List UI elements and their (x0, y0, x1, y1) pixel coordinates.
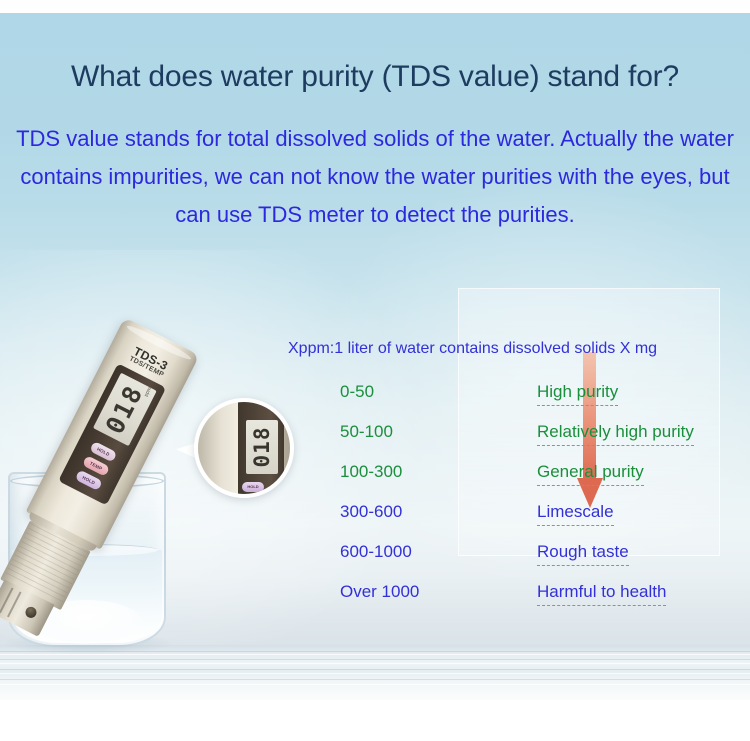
table-row: 600-1000 Rough taste (288, 542, 718, 582)
magnified-lcd-value: 018 (246, 420, 278, 474)
cell-description: Relatively high purity (537, 422, 694, 446)
cell-description: Harmful to health (537, 582, 666, 606)
table-row: Over 1000 Harmful to health (288, 582, 718, 622)
table-row: 0-50 High purity (288, 382, 718, 422)
cell-range: 0-50 (340, 382, 374, 402)
magnified-hold-button: HOLD (242, 482, 264, 492)
cell-description: Limescale (537, 502, 614, 526)
top-white-band (0, 0, 750, 13)
table-row: 50-100 Relatively high purity (288, 422, 718, 462)
table-header: Xppm:1 liter of water contains dissolved… (288, 340, 657, 358)
page-title: What does water purity (TDS value) stand… (0, 60, 750, 94)
cell-description: Rough taste (537, 542, 629, 566)
infographic-canvas: What does water purity (TDS value) stand… (0, 0, 750, 741)
magnifier-circle: 018 HOLD (194, 398, 294, 498)
cell-description: General purity (537, 462, 644, 486)
table-row: 300-600 Limescale (288, 502, 718, 542)
magnified-lcd-screen: 018 (246, 420, 278, 474)
cell-range: 100-300 (340, 462, 402, 482)
cell-range: Over 1000 (340, 582, 419, 602)
cell-range: 600-1000 (340, 542, 412, 562)
page-subtitle: TDS value stands for total dissolved sol… (8, 120, 742, 234)
tds-scale-table: 0-50 High purity 50-100 Relatively high … (288, 382, 718, 622)
cell-range: 50-100 (340, 422, 393, 442)
cell-description: High purity (537, 382, 618, 406)
table-row: 100-300 General purity (288, 462, 718, 502)
cell-range: 300-600 (340, 502, 402, 522)
bottom-white-band (0, 700, 750, 741)
